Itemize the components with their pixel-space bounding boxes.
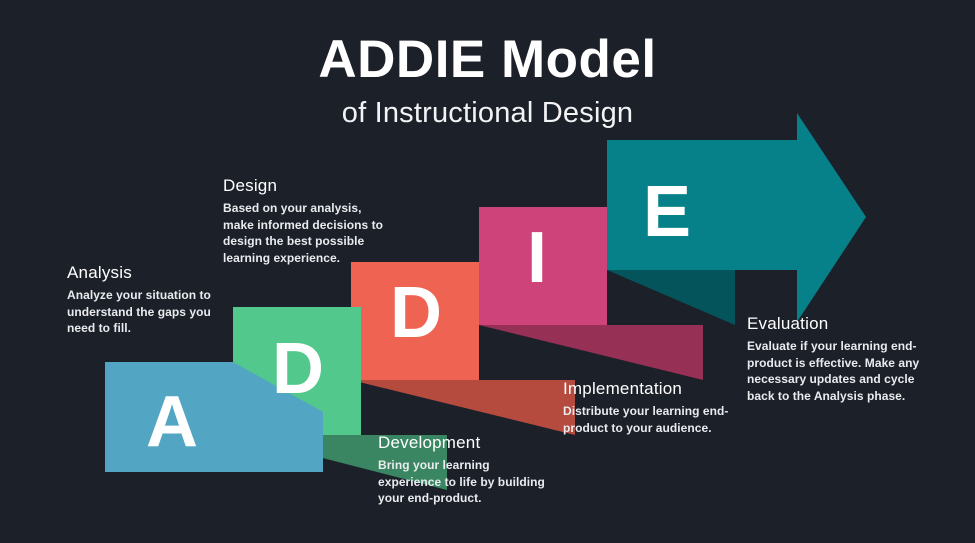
- caption-development: Development Bring your learning experien…: [378, 432, 553, 507]
- caption-title-implementation: Implementation: [563, 378, 735, 399]
- addie-infographic: ADDIE Model of Instructional Design: [0, 0, 975, 543]
- caption-body-evaluation: Evaluate if your learning end-product is…: [747, 338, 932, 404]
- stage-letter-design: D: [272, 333, 324, 405]
- caption-body-analysis: Analyze your situation to understand the…: [67, 287, 227, 337]
- caption-body-implementation: Distribute your learning end-product to …: [563, 403, 735, 436]
- caption-title-analysis: Analysis: [67, 262, 227, 283]
- caption-implementation: Implementation Distribute your learning …: [563, 378, 735, 436]
- caption-body-design: Based on your analysis, make informed de…: [223, 200, 393, 266]
- caption-body-development: Bring your learning experience to life b…: [378, 457, 553, 507]
- caption-design: Design Based on your analysis, make info…: [223, 175, 393, 266]
- caption-title-evaluation: Evaluation: [747, 313, 932, 334]
- caption-title-development: Development: [378, 432, 553, 453]
- stage-letter-evaluation: E: [643, 176, 691, 248]
- stage-letter-development: D: [390, 277, 442, 349]
- stage-letter-implementation: I: [527, 222, 547, 294]
- caption-analysis: Analysis Analyze your situation to under…: [67, 262, 227, 337]
- caption-evaluation: Evaluation Evaluate if your learning end…: [747, 313, 932, 404]
- caption-title-design: Design: [223, 175, 393, 196]
- stage-letter-analysis: A: [146, 386, 198, 458]
